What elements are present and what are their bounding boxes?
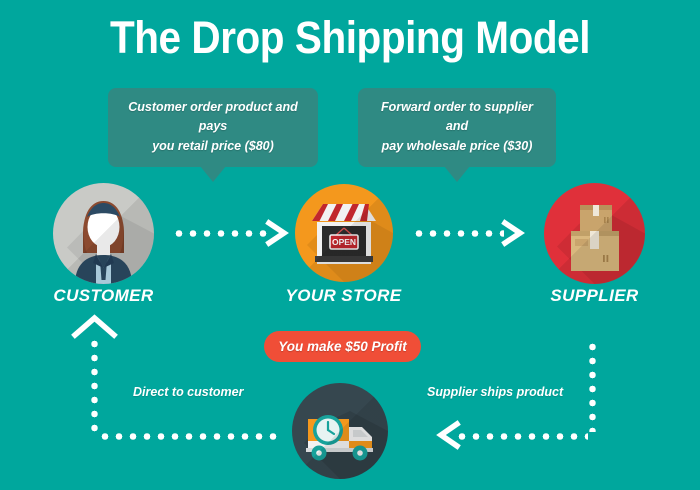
- cardboard-boxes-icon: [544, 183, 645, 284]
- store-node: OPEN: [295, 184, 393, 282]
- arrowhead-left-icon: [432, 420, 462, 450]
- connector-right-vertical-segment: [589, 340, 596, 432]
- bubble-tail: [200, 166, 226, 182]
- bubble-tail: [444, 166, 470, 182]
- open-sign-text: OPEN: [332, 237, 356, 247]
- supplier-bubble-line1: Forward order to supplier and: [381, 100, 533, 133]
- infographic-canvas: The Drop Shipping Model Customer order p…: [0, 0, 700, 490]
- profit-badge: You make $50 Profit: [264, 331, 421, 362]
- store-label: YOUR STORE: [266, 286, 421, 306]
- direct-to-customer-caption: Direct to customer: [133, 385, 243, 399]
- customer-speech-bubble: Customer order product and pays you reta…: [108, 88, 318, 167]
- connector-bottom-right-segment: [455, 433, 588, 440]
- storefront-icon: OPEN: [295, 184, 393, 282]
- customer-bubble-line2: you retail price ($80): [152, 139, 274, 153]
- delivery-truck-icon: [292, 383, 388, 479]
- connector-bottom-left-segment: [98, 433, 280, 440]
- supplier-node: [544, 183, 645, 284]
- page-title: The Drop Shipping Model: [35, 12, 665, 64]
- connector-customer-to-store: [172, 230, 268, 237]
- customer-bubble-line1: Customer order product and pays: [128, 100, 297, 133]
- arrowhead-right-icon: [264, 219, 294, 247]
- truck-node: [292, 383, 388, 479]
- arrowhead-right-icon: [500, 219, 530, 247]
- customer-label: CUSTOMER: [26, 286, 181, 306]
- supplier-bubble-line2: pay wholesale price ($30): [382, 139, 533, 153]
- supplier-speech-bubble: Forward order to supplier and pay wholes…: [358, 88, 556, 167]
- connector-left-vertical-segment: [91, 337, 98, 436]
- arrowhead-up-icon: [70, 311, 120, 339]
- customer-avatar-icon: [53, 183, 154, 284]
- connector-store-to-supplier: [412, 230, 504, 237]
- customer-node: [53, 183, 154, 284]
- supplier-ships-product-caption: Supplier ships product: [427, 385, 563, 399]
- supplier-label: SUPPLIER: [517, 286, 672, 306]
